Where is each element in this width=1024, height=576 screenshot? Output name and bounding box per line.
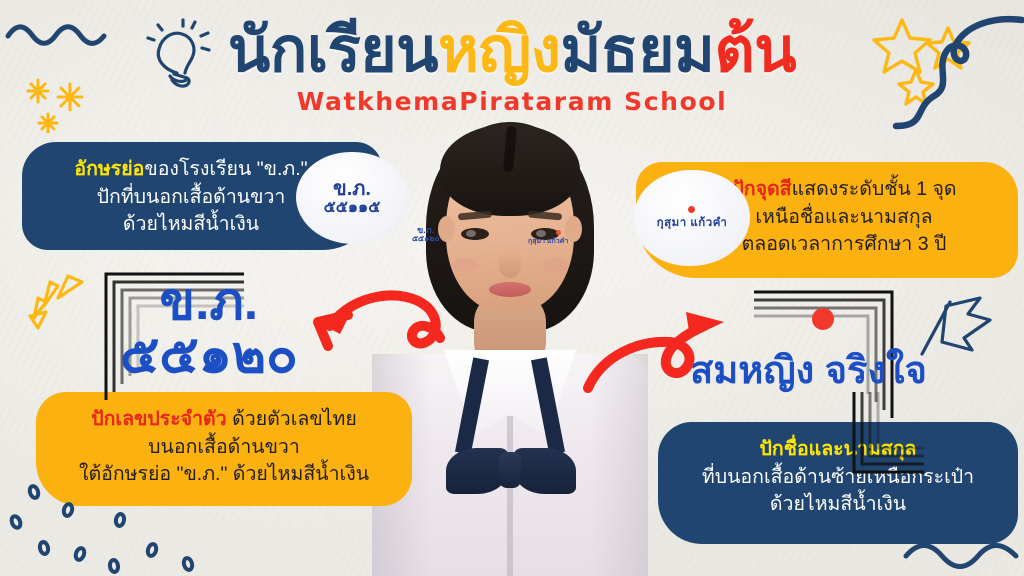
- info-box-name-embroidery: ปักชื่อและนามสกุล ที่บนอกเสื้อด้านซ้ายเห…: [658, 422, 1018, 544]
- badge-name-text: กุสุมา แก้วคำ: [657, 217, 728, 229]
- cheek-left: [452, 258, 478, 272]
- uniform-embroidery-right: กุสุมา แก้วคำ: [528, 238, 568, 245]
- info-line: ใต้อักษรย่อ "ข.ภ." ด้วยไหมสีน้ำเงิน: [56, 461, 392, 489]
- badge-name: กุสุมา แก้วคำ: [634, 170, 750, 266]
- embroidery-number: ๕๕๑๒๐: [412, 235, 439, 243]
- squiggle-icon: [904, 540, 1024, 576]
- mouth: [489, 282, 531, 297]
- callout-level-dot: [812, 308, 834, 330]
- badge-level-dot: [688, 206, 695, 213]
- photo-subject: ข.ภ. ๕๕๑๒๐ กุสุมา แก้วคำ: [360, 96, 660, 576]
- info-text: ด้วยตัวเลขไทย: [227, 408, 357, 430]
- badge-abbrev-text: ข.ภ.: [333, 179, 371, 200]
- title-segment-1: นักเรียน: [228, 16, 438, 85]
- info-text: ของโรงเรียน "ข.ภ.": [144, 158, 307, 180]
- callout-number: ๕๕๑๒๐: [120, 329, 298, 382]
- title-segment-2: หญิง: [438, 16, 560, 85]
- flag-icon: [916, 292, 1002, 368]
- embroidery-level-dot: [556, 230, 561, 235]
- student-photo: ข.ภ. ๕๕๑๒๐ กุสุมา แก้วคำ: [360, 96, 660, 576]
- ear-left: [438, 216, 455, 242]
- info-line: บนอกเสื้อด้านขวา: [56, 434, 392, 462]
- info-line: ด้วยไหมสีน้ำเงิน: [678, 491, 998, 519]
- badge-abbreviation: ข.ภ. ๕๕๑๑๕: [296, 152, 408, 244]
- info-text: แสดงระดับชั้น 1 จุด: [792, 178, 957, 200]
- cheek-right: [542, 258, 568, 272]
- title-segment-3: มัธยม: [561, 16, 715, 85]
- burst-rays-icon: [24, 272, 94, 342]
- badge-number-text: ๕๕๑๑๕: [324, 200, 381, 217]
- title-segment-4: ต้น: [714, 16, 796, 85]
- info-highlight: ปักชื่อและนามสกุล: [678, 436, 998, 464]
- info-line: ปักเลขประจำตัว ด้วยตัวเลขไทย: [56, 406, 392, 434]
- shirt-placket: [507, 416, 513, 576]
- info-highlight: อักษรย่อ: [74, 158, 144, 180]
- title-text: นักเรียนหญิงมัธยมต้น: [0, 18, 1024, 83]
- callout-student-name: สมหญิง จริงใจ: [690, 352, 927, 391]
- uniform-embroidery-left: ข.ภ. ๕๕๑๒๐: [412, 226, 439, 244]
- info-line: ที่บนอกเสื้อด้านซ้ายเหนือกระเป๋า: [678, 464, 998, 492]
- info-highlight: ปักเลขประจำตัว: [91, 408, 226, 430]
- nose: [499, 252, 521, 278]
- callout-student-number: ข.ภ. ๕๕๑๒๐: [120, 276, 298, 382]
- bow-tie-knot: [499, 452, 521, 488]
- bow-tie-right: [514, 448, 576, 494]
- callout-abbrev: ข.ภ.: [120, 276, 298, 329]
- eye-highlight-right: [536, 230, 546, 237]
- eye-highlight-left: [466, 230, 476, 237]
- info-box-student-number: ปักเลขประจำตัว ด้วยตัวเลขไทย บนอกเสื้อด้…: [36, 392, 412, 506]
- shirt-shade-right: [588, 354, 648, 576]
- poster-canvas: นักเรียนหญิงมัธยมต้น WatkhemaPirataram S…: [0, 0, 1024, 576]
